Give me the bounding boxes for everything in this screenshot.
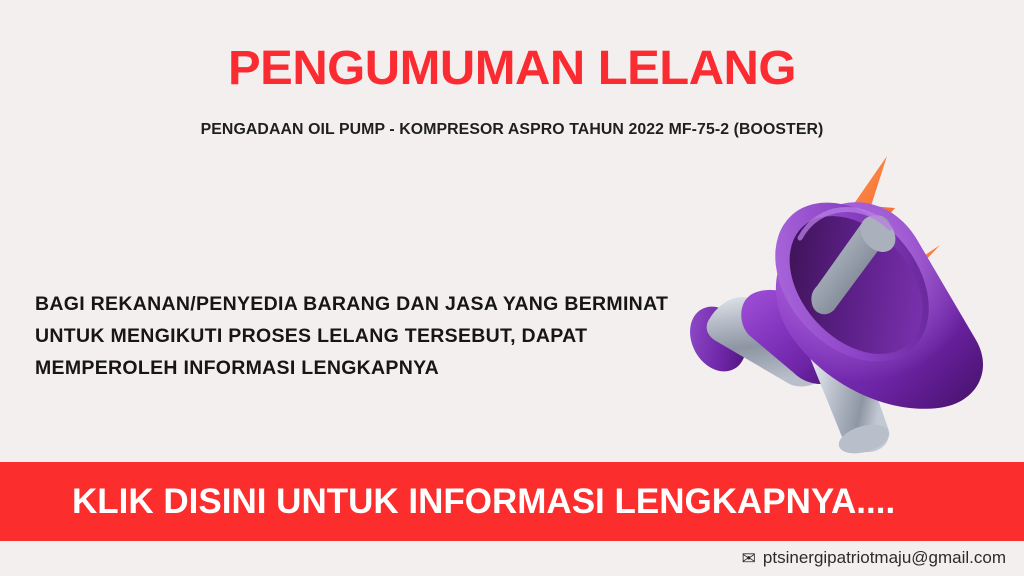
body-paragraph: BAGI REKANAN/PENYEDIA BARANG DAN JASA YA… bbox=[35, 288, 715, 384]
page-subtitle: PENGADAAN OIL PUMP - KOMPRESOR ASPRO TAH… bbox=[5, 121, 1019, 139]
footer-contact: ✉ ptsinergipatriotmaju@gmail.com bbox=[742, 548, 1006, 568]
page-title: PENGUMUMAN LELANG bbox=[0, 44, 1024, 94]
megaphone-illustration bbox=[676, 142, 1016, 482]
cta-banner[interactable]: KLIK DISINI UNTUK INFORMASI LENGKAPNYA..… bbox=[0, 462, 1024, 541]
contact-email[interactable]: ptsinergipatriotmaju@gmail.com bbox=[763, 548, 1006, 568]
cta-label: KLIK DISINI UNTUK INFORMASI LENGKAPNYA..… bbox=[72, 482, 895, 522]
envelope-icon: ✉ bbox=[742, 550, 756, 567]
poster-canvas: PENGUMUMAN LELANG PENGADAAN OIL PUMP - K… bbox=[0, 0, 1024, 576]
